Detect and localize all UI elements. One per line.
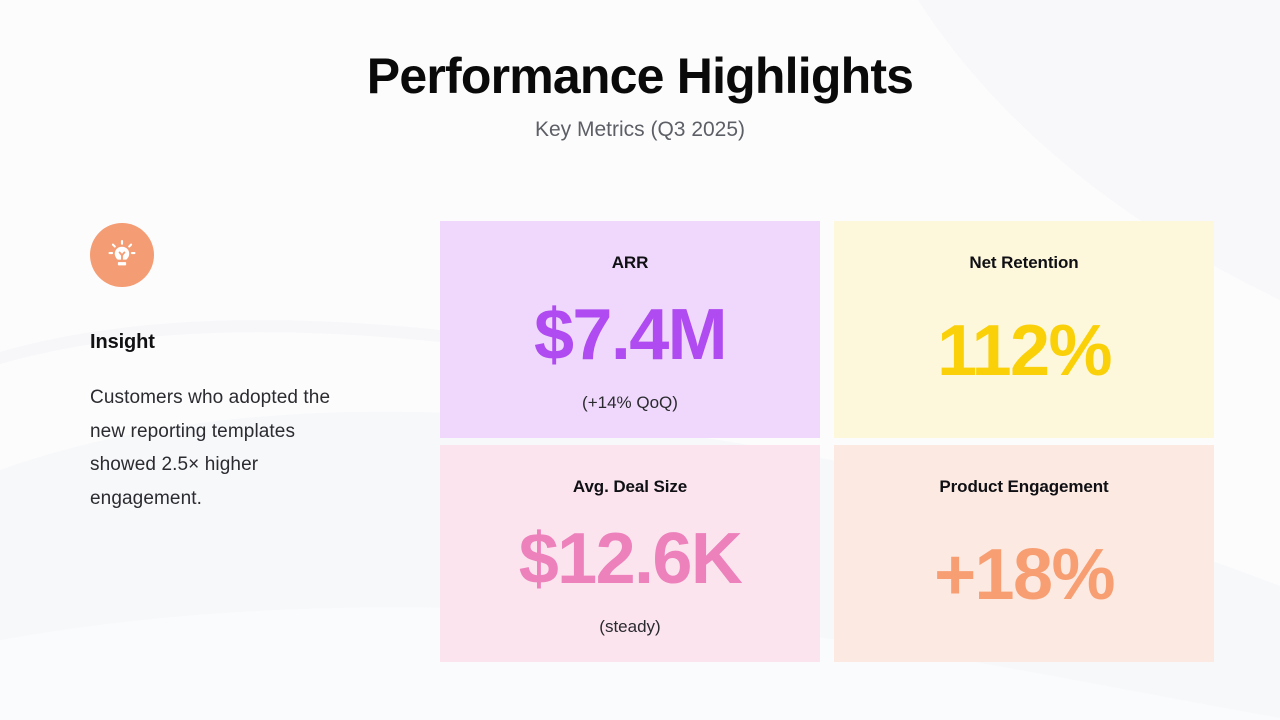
metric-label: Product Engagement bbox=[939, 477, 1108, 497]
metric-card-net-retention: Net Retention 112% bbox=[834, 221, 1214, 438]
slide: Performance Highlights Key Metrics (Q3 2… bbox=[0, 0, 1280, 720]
metric-grid: ARR $7.4M (+14% QoQ) Net Retention 112% … bbox=[440, 221, 1214, 662]
lightbulb-icon bbox=[105, 238, 139, 272]
metric-sublabel: (steady) bbox=[599, 617, 660, 637]
metric-value: $7.4M bbox=[534, 299, 726, 371]
insight-heading: Insight bbox=[90, 331, 352, 354]
metric-label: Avg. Deal Size bbox=[573, 477, 687, 497]
insight-body: Customers who adopted the new reporting … bbox=[90, 381, 352, 515]
page-subtitle: Key Metrics (Q3 2025) bbox=[0, 117, 1280, 142]
insight-badge bbox=[90, 223, 154, 287]
slide-header: Performance Highlights Key Metrics (Q3 2… bbox=[0, 48, 1280, 142]
metric-sublabel: (+14% QoQ) bbox=[582, 393, 678, 413]
metric-card-avg-deal-size: Avg. Deal Size $12.6K (steady) bbox=[440, 445, 820, 662]
metric-value: +18% bbox=[934, 539, 1114, 611]
insight-panel: Insight Customers who adopted the new re… bbox=[90, 223, 352, 515]
metric-label: ARR bbox=[612, 253, 649, 273]
metric-card-product-engagement: Product Engagement +18% bbox=[834, 445, 1214, 662]
metric-value: 112% bbox=[937, 315, 1111, 387]
metric-card-arr: ARR $7.4M (+14% QoQ) bbox=[440, 221, 820, 438]
metric-label: Net Retention bbox=[969, 253, 1078, 273]
page-title: Performance Highlights bbox=[0, 48, 1280, 104]
metric-value: $12.6K bbox=[519, 523, 742, 595]
